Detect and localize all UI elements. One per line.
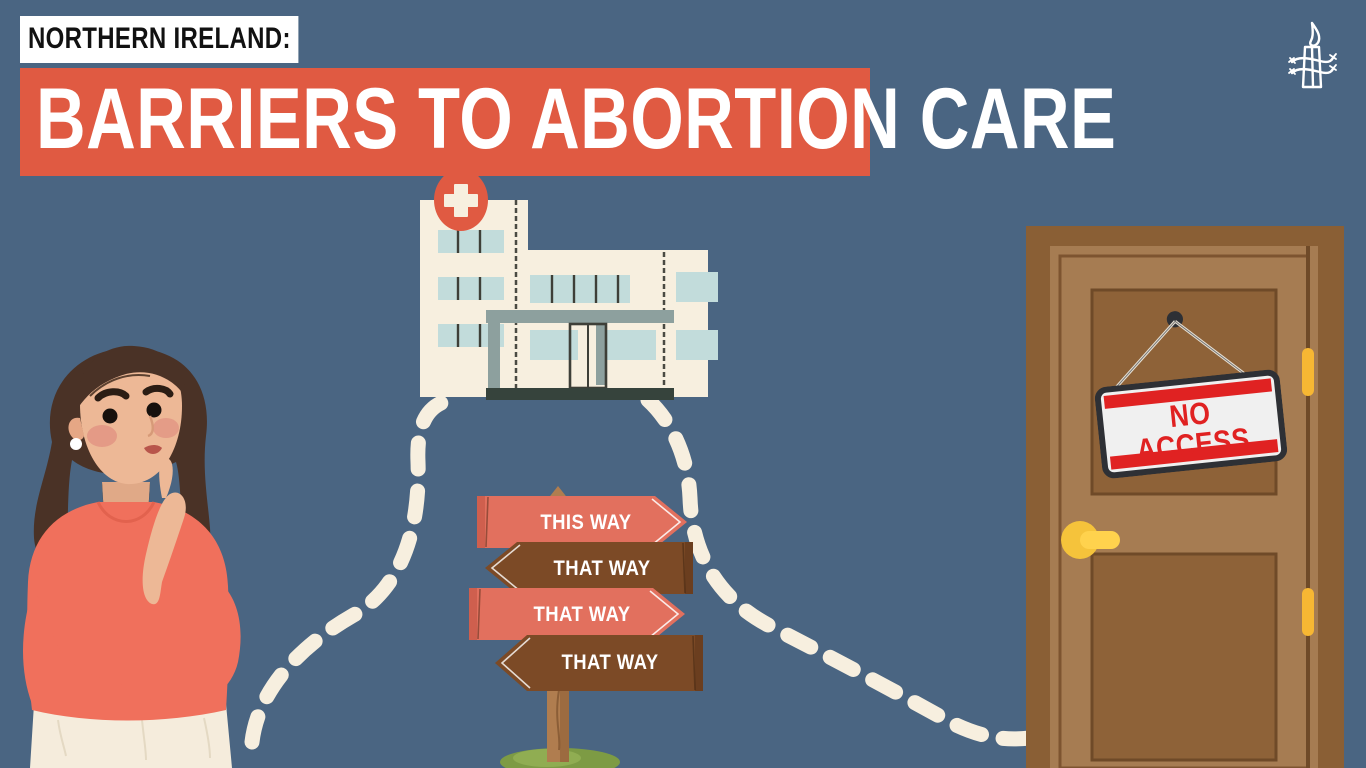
eye-right bbox=[147, 403, 162, 418]
door-hinge-top bbox=[1302, 348, 1314, 396]
page-title: BARRIERS TO ABORTION CARE bbox=[36, 79, 690, 161]
blush-right bbox=[153, 418, 179, 438]
kicker-label: NORTHERN IRELAND: bbox=[20, 16, 299, 63]
hospital-window-band bbox=[530, 275, 630, 303]
title-block: NORTHERN IRELAND: BARRIERS TO ABORTION C… bbox=[20, 16, 870, 176]
poster-canvas: NORTHERN IRELAND: BARRIERS TO ABORTION C… bbox=[0, 0, 1366, 768]
sign-arrow-3 bbox=[469, 588, 685, 640]
eye-left bbox=[103, 409, 118, 424]
door-hinge-bottom bbox=[1302, 588, 1314, 636]
canopy-pillar-left bbox=[488, 323, 500, 389]
sign-arrow-2 bbox=[485, 542, 693, 594]
thinking-woman-illustration bbox=[0, 332, 264, 768]
hospital-building bbox=[408, 172, 728, 407]
candle-barbed-wire-icon bbox=[1286, 18, 1338, 92]
sign-arrow-4 bbox=[495, 635, 703, 691]
sign-arrow-1 bbox=[477, 496, 687, 548]
hospital-base bbox=[486, 388, 674, 400]
headline-banner: BARRIERS TO ABORTION CARE bbox=[20, 68, 870, 176]
path-segment-left bbox=[252, 400, 450, 742]
canopy-pillar-right bbox=[596, 323, 606, 385]
door-panel-lower bbox=[1092, 554, 1276, 760]
confusing-directions-signpost: THIS WAY THAT WAY THAT WAY THAT WAY bbox=[455, 480, 715, 768]
blush-left bbox=[87, 425, 117, 447]
hospital-canopy bbox=[486, 310, 674, 323]
earring bbox=[70, 438, 82, 450]
no-access-sign: NO ACCESS bbox=[1094, 369, 1289, 480]
